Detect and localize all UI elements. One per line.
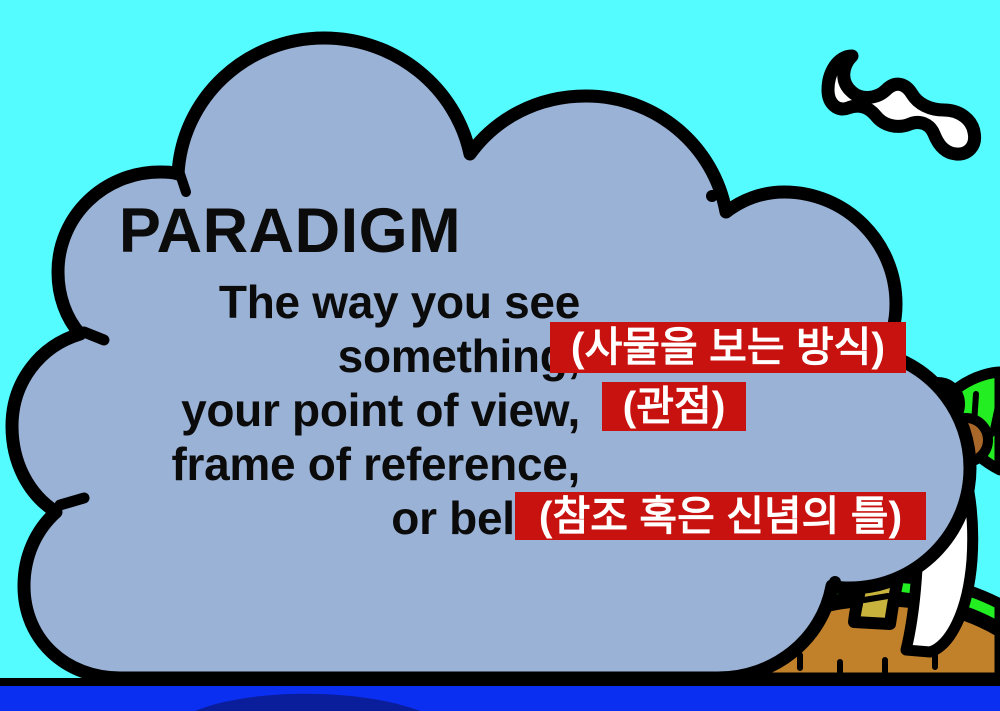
screenshot-canvas: PARADIGM The way you see something, your…	[0, 0, 1000, 711]
translation-callout-frame-of-reference: (참조 혹은 신념의 틀)	[515, 492, 926, 540]
slide-artboard: PARADIGM The way you see something, your…	[0, 0, 1000, 711]
translation-callout-point-of-view: (관점)	[602, 382, 746, 431]
translation-callout-way-you-see-something: (사물을 보는 방식)	[550, 322, 906, 373]
